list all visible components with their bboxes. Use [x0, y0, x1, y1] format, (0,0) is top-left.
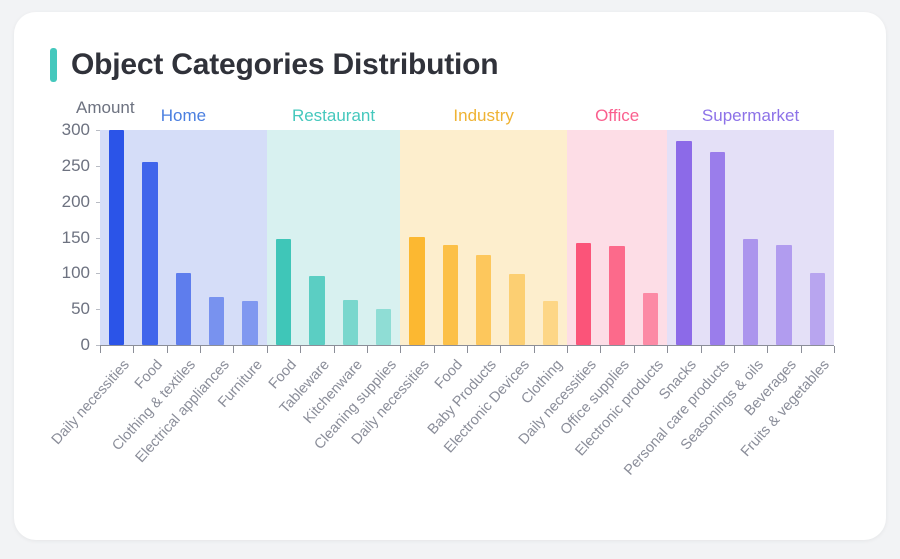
- bar[interactable]: [242, 301, 257, 345]
- bar[interactable]: [743, 239, 758, 345]
- bar[interactable]: [209, 297, 224, 345]
- bar[interactable]: [443, 245, 458, 345]
- x-axis-tick-mark: [267, 346, 268, 353]
- bar[interactable]: [309, 276, 324, 345]
- y-axis-tick-label: 300: [46, 120, 90, 140]
- bar[interactable]: [776, 245, 791, 345]
- plot-area: 050100150200250300: [100, 130, 834, 345]
- y-axis-tick-label: 200: [46, 192, 90, 212]
- chart-card: Object Categories Distribution Amount 05…: [14, 12, 886, 540]
- bar[interactable]: [543, 301, 558, 345]
- bar[interactable]: [576, 243, 591, 345]
- x-axis-tick-mark: [467, 346, 468, 353]
- x-axis-tick-mark: [734, 346, 735, 353]
- bar[interactable]: [276, 239, 291, 345]
- x-axis-tick-mark: [801, 346, 802, 353]
- group-label-restaurant: Restaurant: [292, 106, 375, 126]
- x-axis-tick-mark: [400, 346, 401, 353]
- x-axis-tick-mark: [334, 346, 335, 353]
- x-axis-tick-mark: [133, 346, 134, 353]
- x-axis-tick-mark: [500, 346, 501, 353]
- bar[interactable]: [810, 273, 825, 345]
- bar[interactable]: [643, 293, 658, 345]
- bar[interactable]: [676, 141, 691, 345]
- bar[interactable]: [609, 246, 624, 345]
- x-axis-tick-mark: [300, 346, 301, 353]
- x-axis-tick-mark: [434, 346, 435, 353]
- x-axis-tick-mark: [367, 346, 368, 353]
- bar[interactable]: [142, 162, 157, 345]
- x-axis-tick-mark: [233, 346, 234, 353]
- bar[interactable]: [509, 274, 524, 345]
- bar[interactable]: [409, 237, 424, 345]
- group-label-home: Home: [161, 106, 206, 126]
- x-axis-tick-mark: [667, 346, 668, 353]
- bar[interactable]: [176, 273, 191, 345]
- x-axis-tick-mark: [701, 346, 702, 353]
- y-axis-tick-label: 250: [46, 156, 90, 176]
- x-axis-tick-mark: [567, 346, 568, 353]
- bar[interactable]: [109, 130, 124, 345]
- bar[interactable]: [376, 309, 391, 345]
- x-axis-tick-mark: [200, 346, 201, 353]
- x-axis-tick-mark: [634, 346, 635, 353]
- chart-plot: 050100150200250300 HomeRestaurantIndustr…: [14, 12, 886, 540]
- bar[interactable]: [343, 300, 358, 345]
- group-label-industry: Industry: [453, 106, 513, 126]
- group-label-supermarket: Supermarket: [702, 106, 799, 126]
- y-axis-tick-label: 150: [46, 228, 90, 248]
- x-axis-tick-mark: [834, 346, 835, 353]
- x-axis-tick-mark: [600, 346, 601, 353]
- bar[interactable]: [710, 152, 725, 346]
- x-axis-tick-mark: [534, 346, 535, 353]
- bar[interactable]: [476, 255, 491, 345]
- y-axis-tick-label: 50: [46, 299, 90, 319]
- group-label-office: Office: [595, 106, 639, 126]
- y-axis-tick-label: 100: [46, 263, 90, 283]
- y-axis-tick-label: 0: [46, 335, 90, 355]
- x-axis-tick-mark: [767, 346, 768, 353]
- x-axis-tick-mark: [100, 346, 101, 353]
- x-axis-tick-mark: [167, 346, 168, 353]
